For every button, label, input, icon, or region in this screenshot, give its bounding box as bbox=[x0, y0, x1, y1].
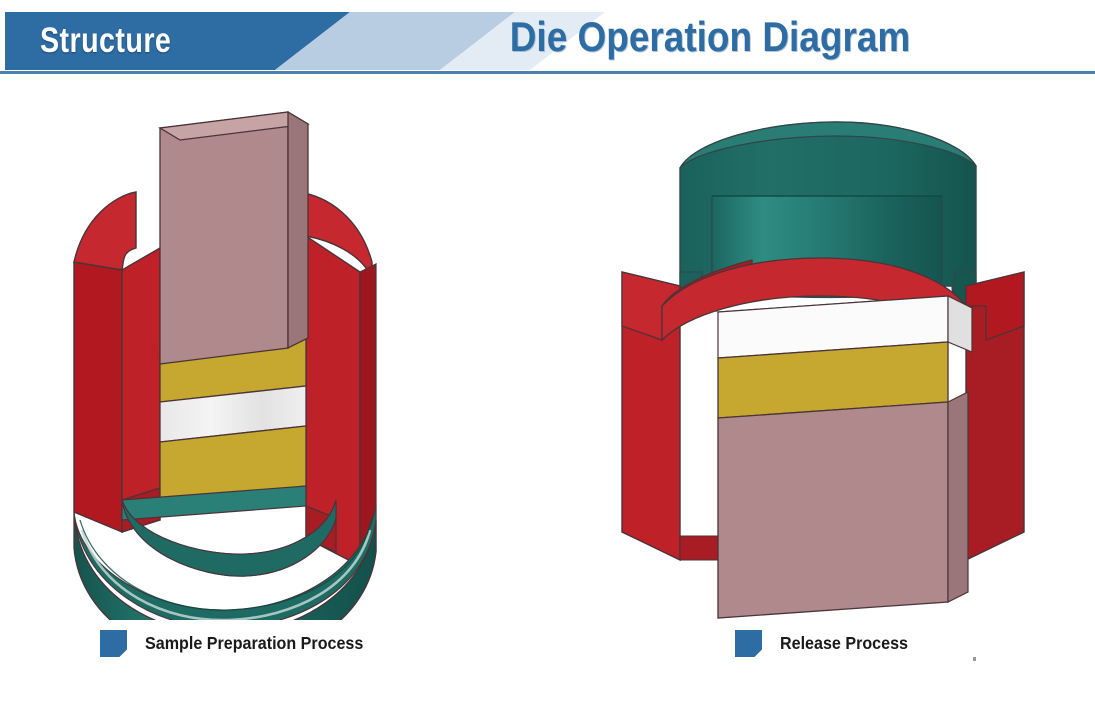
header-tag-label: Structure bbox=[40, 12, 237, 70]
header-divider-rule bbox=[0, 71, 1095, 74]
diagram-sample-preparation bbox=[60, 100, 460, 620]
die-left-wall-top-curve bbox=[74, 192, 136, 270]
punch-side-face bbox=[288, 112, 308, 348]
lower-punch-side bbox=[948, 392, 968, 602]
diagram-release-process bbox=[600, 100, 1060, 620]
legend-marker-icon bbox=[735, 630, 762, 657]
lower-punch-front bbox=[718, 402, 948, 618]
lower-base-left bbox=[74, 484, 376, 620]
lower-punch-right bbox=[718, 392, 968, 618]
legend-release-process: Release Process bbox=[735, 630, 919, 657]
page-title: Die Operation Diagram bbox=[464, 6, 957, 68]
stray-speck bbox=[973, 657, 976, 661]
legend-label-sample-preparation: Sample Preparation Process bbox=[145, 633, 363, 654]
legend-label-release-process: Release Process bbox=[780, 633, 908, 654]
legend-marker-icon bbox=[100, 630, 127, 657]
die-left-wall bbox=[74, 262, 122, 532]
legend-sample-preparation: Sample Preparation Process bbox=[100, 630, 382, 657]
punch-front-face bbox=[160, 112, 288, 364]
page-header: Structure Die Operation Diagram bbox=[0, 0, 1095, 80]
